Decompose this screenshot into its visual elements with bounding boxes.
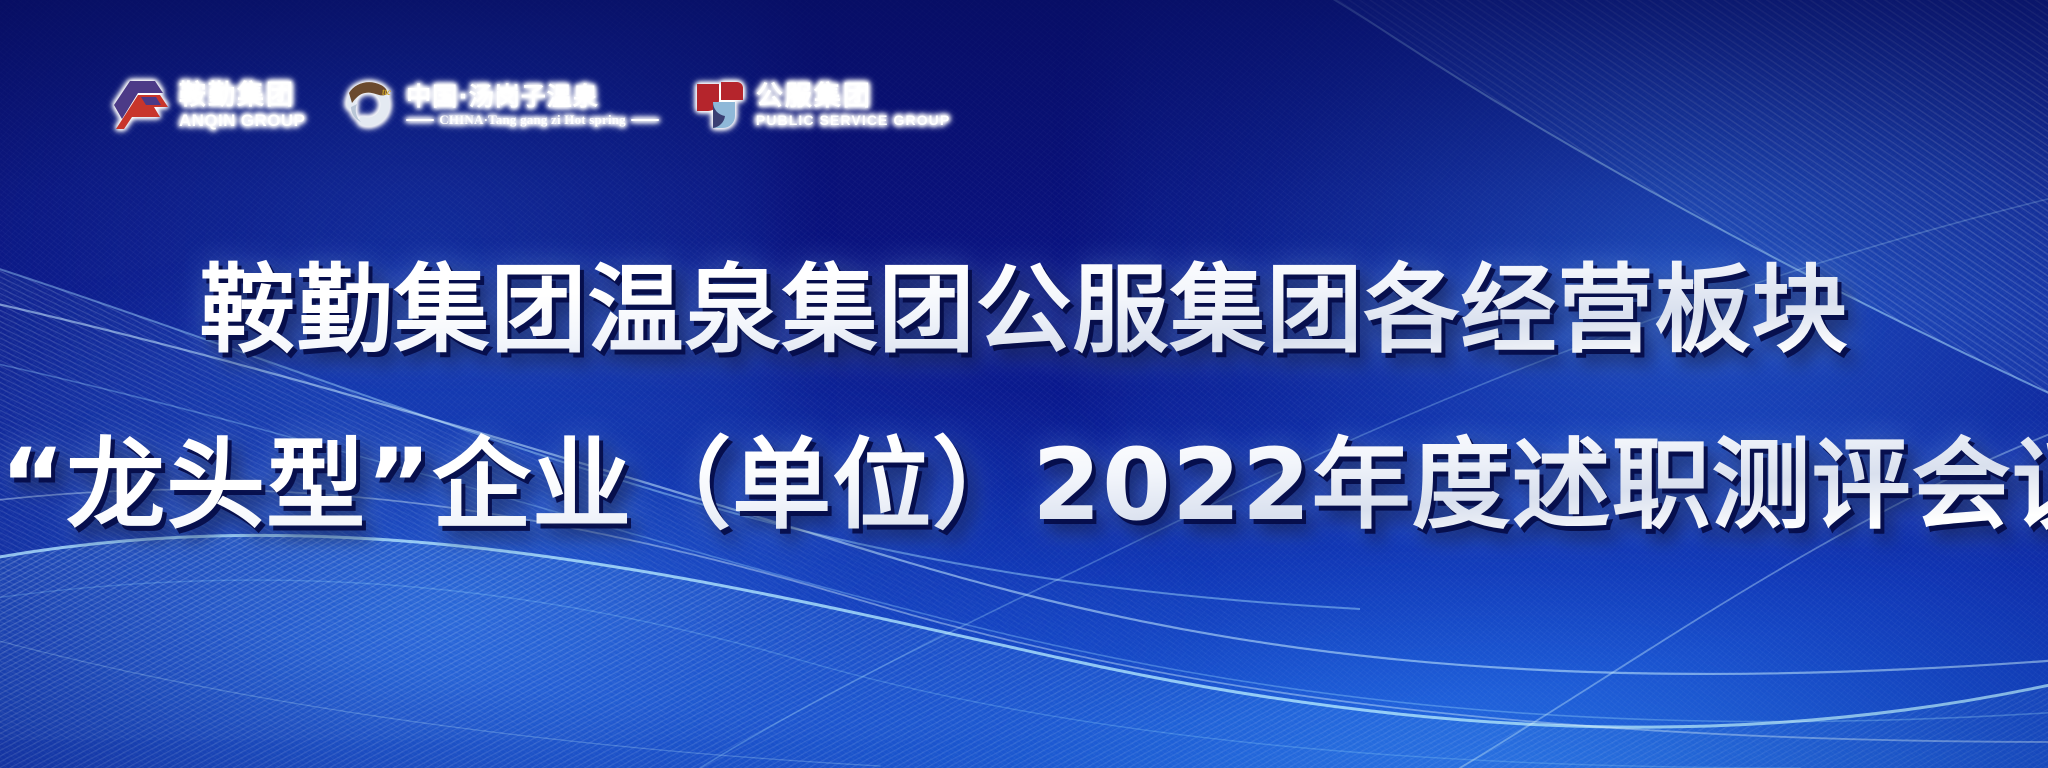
logo-public-service-group: 公服集团 PUBLIC SERVICE GROUP xyxy=(693,74,950,136)
tanggangzi-spring-icon: ttc xyxy=(339,77,397,133)
mesh-wave-left xyxy=(0,180,1360,740)
logo-public-en: PUBLIC SERVICE GROUP xyxy=(756,113,950,127)
logo-hotspring-en: CHINA·Tang gang zi Hot spring xyxy=(439,113,626,126)
mesh-wave-bottom xyxy=(0,328,2048,768)
title-line-1: 鞍勤集团温泉集团公服集团各经营板块 xyxy=(0,232,2048,371)
background-glow-bottom xyxy=(696,461,2048,768)
logo-tanggangzi-hot-spring: ttc 中国·汤岗子温泉 CHINA·Tang gang zi Hot spri… xyxy=(339,74,659,136)
logo-hotspring-cn: 中国·汤岗子温泉 xyxy=(406,84,659,109)
anqin-triangle-icon xyxy=(108,79,170,131)
logo-hotspring-rule-left xyxy=(406,119,434,121)
public-service-petal-icon xyxy=(693,78,747,132)
conference-banner: 鞍勤集团 ANQIN GROUP ttc 中国·汤岗子温泉 CHINA·Tang… xyxy=(0,0,2048,768)
background-top-shade xyxy=(0,0,2048,307)
logo-anqin-cn: 鞍勤集团 xyxy=(179,82,305,109)
mesh-wave-top-right xyxy=(928,0,2048,560)
background-glow-left xyxy=(0,276,1188,768)
logo-public-cn: 公服集团 xyxy=(756,83,950,110)
logo-hotspring-rule-right xyxy=(631,119,659,121)
logo-anqin-group: 鞍勤集团 ANQIN GROUP xyxy=(108,74,305,136)
svg-text:ttc: ttc xyxy=(382,87,391,97)
logo-anqin-en: ANQIN GROUP xyxy=(179,112,305,129)
background-glow-top-left xyxy=(0,0,778,445)
title-line-2: “龙头型”企业（单位）2022年度述职测评会议 xyxy=(0,404,2048,548)
background-glow-top-right xyxy=(1106,0,2048,492)
sponsor-logo-bar: 鞍勤集团 ANQIN GROUP ttc 中国·汤岗子温泉 CHINA·Tang… xyxy=(108,74,950,136)
